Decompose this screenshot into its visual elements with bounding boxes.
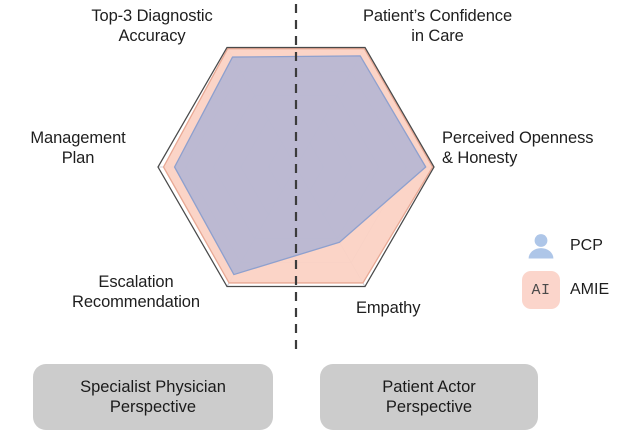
ai-badge-icon: AI — [522, 271, 560, 309]
radar-series — [164, 49, 433, 283]
radar-chart-figure: Top-3 Diagnostic Accuracy Patient’s Conf… — [0, 0, 640, 448]
axis-label-escalation-recommendation: Escalation Recommendation — [28, 272, 244, 312]
perspective-pill-patient-actor: Patient Actor Perspective — [320, 364, 538, 430]
legend-label-pcp: PCP — [570, 237, 603, 255]
axis-label-empathy: Empathy — [356, 298, 486, 318]
chart-legend: PCP AI AMIE — [522, 224, 640, 312]
perspective-pill-specialist-physician: Specialist Physician Perspective — [33, 364, 273, 430]
axis-label-perceived-openness-honesty: Perceived Openness & Honesty — [442, 128, 640, 168]
axis-label-patients-confidence-in-care: Patient’s Confidence in Care — [330, 6, 545, 46]
legend-item-amie: AI AMIE — [522, 268, 640, 312]
ai-badge-text: AI — [522, 271, 560, 309]
person-icon — [522, 227, 560, 265]
legend-item-pcp: PCP — [522, 224, 640, 268]
axis-label-top-3-diagnostic-accuracy: Top-3 Diagnostic Accuracy — [52, 6, 252, 46]
axis-label-management-plan: Management Plan — [14, 128, 142, 168]
legend-label-amie: AMIE — [570, 281, 609, 299]
